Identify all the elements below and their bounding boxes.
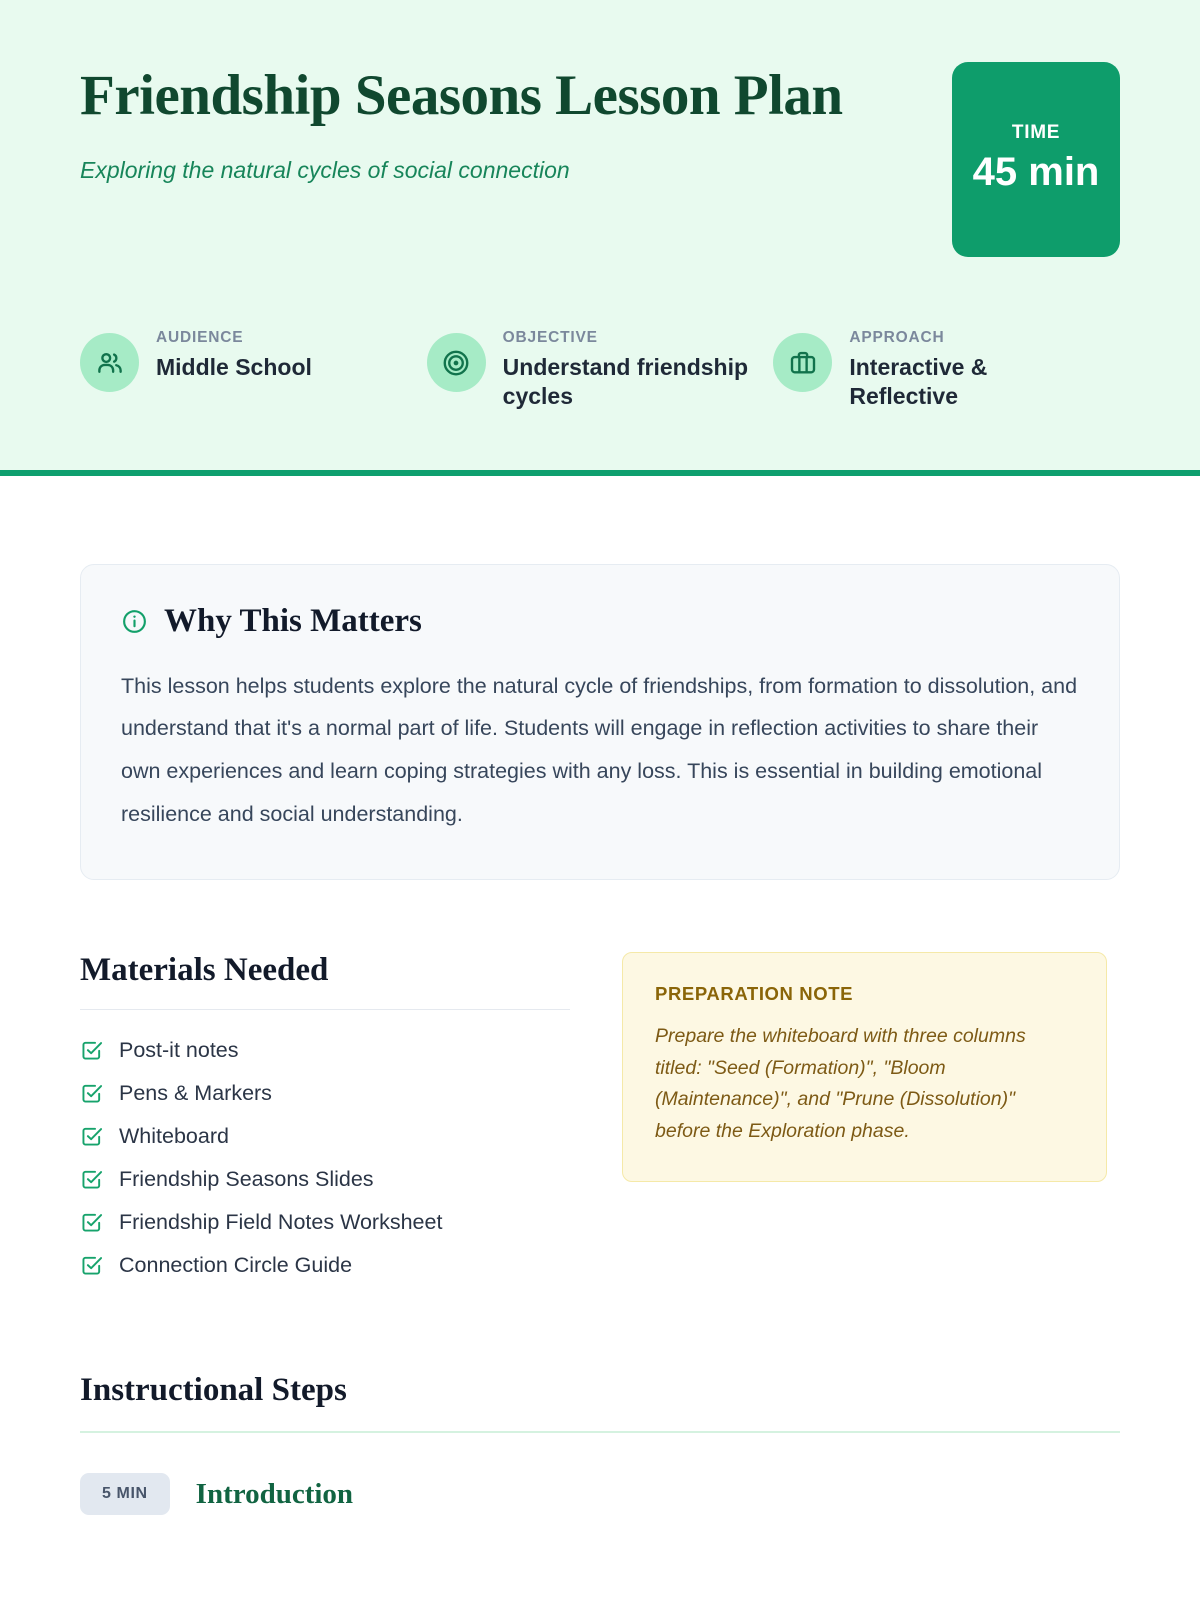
material-label: Connection Circle Guide: [119, 1253, 352, 1278]
step-duration-badge: 5 MIN: [80, 1473, 170, 1515]
instructional-steps-title: Instructional Steps: [80, 1372, 1120, 1409]
material-label: Pens & Markers: [119, 1081, 272, 1106]
time-badge-value: 45 min: [973, 148, 1100, 197]
preparation-note-body: Prepare the whiteboard with three column…: [655, 1021, 1074, 1147]
checkbox-checked-icon: [80, 1039, 103, 1062]
meta-row: AUDIENCE Middle School OBJECTIVE Underst…: [80, 319, 1120, 412]
list-item: Friendship Field Notes Worksheet: [80, 1210, 570, 1235]
list-item: Post-it notes: [80, 1038, 570, 1063]
meta-label-audience: AUDIENCE: [156, 329, 312, 347]
meta-value-audience: Middle School: [156, 353, 312, 382]
list-item: Connection Circle Guide: [80, 1253, 570, 1278]
materials-section: Materials Needed Post-it notes: [80, 952, 570, 1296]
materials-and-note-row: Materials Needed Post-it notes: [80, 952, 1120, 1296]
header-title-block: Friendship Seasons Lesson Plan Exploring…: [80, 62, 843, 184]
checkbox-checked-icon: [80, 1211, 103, 1234]
material-label: Friendship Seasons Slides: [119, 1167, 374, 1192]
step-row: 5 MIN Introduction: [80, 1473, 1120, 1515]
materials-list: Post-it notes Pens & Markers: [80, 1038, 570, 1278]
target-icon: [427, 333, 486, 392]
time-badge-label: TIME: [1012, 122, 1060, 144]
materials-divider: [80, 1009, 570, 1010]
list-item: Pens & Markers: [80, 1081, 570, 1106]
why-this-matters-title: Why This Matters: [164, 603, 422, 640]
meta-label-objective: OBJECTIVE: [503, 329, 753, 347]
briefcase-icon: [773, 333, 832, 392]
why-this-matters-card: Why This Matters This lesson helps stude…: [80, 564, 1120, 880]
step-name: Introduction: [196, 1478, 353, 1511]
meta-item-objective: OBJECTIVE Understand friendship cycles: [427, 319, 774, 412]
checkbox-checked-icon: [80, 1082, 103, 1105]
material-label: Whiteboard: [119, 1124, 229, 1149]
preparation-note-title: PREPARATION NOTE: [655, 983, 1074, 1005]
lesson-header: Friendship Seasons Lesson Plan Exploring…: [0, 0, 1200, 476]
meta-text-objective: OBJECTIVE Understand friendship cycles: [503, 319, 753, 412]
meta-item-audience: AUDIENCE Middle School: [80, 319, 427, 392]
preparation-note-column: PREPARATION NOTE Prepare the whiteboard …: [622, 952, 1107, 1182]
meta-text-approach: APPROACH Interactive & Reflective: [849, 319, 1099, 412]
page-subtitle: Exploring the natural cycles of social c…: [80, 157, 843, 184]
meta-value-approach: Interactive & Reflective: [849, 353, 1099, 412]
checkbox-checked-icon: [80, 1125, 103, 1148]
list-item: Friendship Seasons Slides: [80, 1167, 570, 1192]
checkbox-checked-icon: [80, 1254, 103, 1277]
why-this-matters-body: This lesson helps students explore the n…: [121, 665, 1079, 835]
instructional-steps-divider: [80, 1431, 1120, 1433]
meta-item-approach: APPROACH Interactive & Reflective: [773, 319, 1120, 412]
meta-text-audience: AUDIENCE Middle School: [156, 319, 312, 382]
info-circle-icon: [121, 608, 148, 635]
material-label: Friendship Field Notes Worksheet: [119, 1210, 442, 1235]
why-this-matters-header: Why This Matters: [121, 603, 1079, 640]
checkbox-checked-icon: [80, 1168, 103, 1191]
material-label: Post-it notes: [119, 1038, 239, 1063]
meta-label-approach: APPROACH: [849, 329, 1099, 347]
header-top-row: Friendship Seasons Lesson Plan Exploring…: [80, 62, 1120, 257]
page-title: Friendship Seasons Lesson Plan: [80, 62, 843, 129]
users-icon: [80, 333, 139, 392]
main-content: Why This Matters This lesson helps stude…: [0, 564, 1200, 1515]
lesson-plan-page: Friendship Seasons Lesson Plan Exploring…: [0, 0, 1200, 1600]
meta-value-objective: Understand friendship cycles: [503, 353, 753, 412]
list-item: Whiteboard: [80, 1124, 570, 1149]
materials-title: Materials Needed: [80, 952, 570, 989]
time-badge: TIME 45 min: [952, 62, 1120, 257]
instructional-steps-section: Instructional Steps 5 MIN Introduction: [80, 1372, 1120, 1515]
preparation-note-card: PREPARATION NOTE Prepare the whiteboard …: [622, 952, 1107, 1182]
